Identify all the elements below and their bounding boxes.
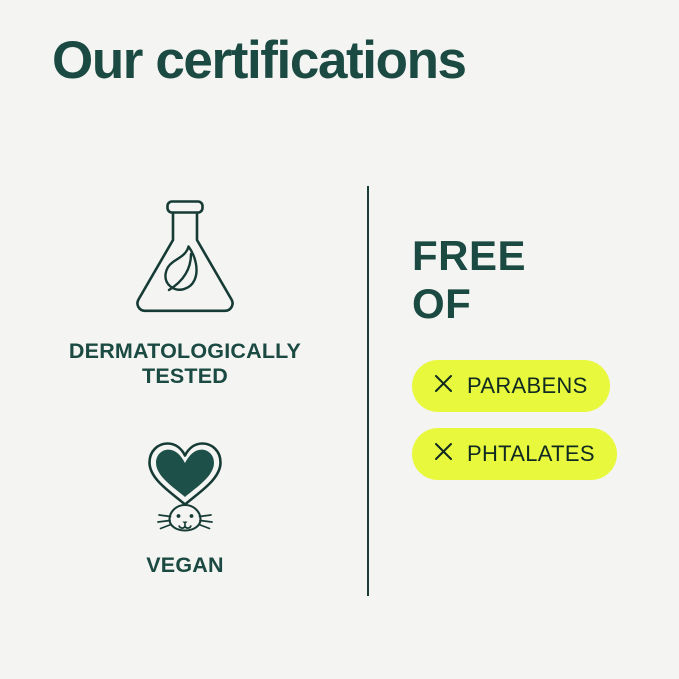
free-of-pill-label: PHTALATES — [467, 443, 595, 465]
free-of-pill-parabens[interactable]: PARABENS — [412, 360, 610, 412]
certifications-column: DERMATOLOGICALLY TESTED — [20, 196, 350, 578]
free-of-list: PARABENS PHTALATES — [412, 360, 662, 480]
certification-vegan: VEGAN — [133, 431, 237, 578]
free-of-column: FREE OF PARABENS PHTALATES — [412, 232, 662, 480]
free-of-heading-line-2: OF — [412, 280, 662, 328]
column-divider — [367, 186, 369, 596]
page-title: Our certifications — [52, 30, 466, 92]
free-of-pill-label: PARABENS — [467, 375, 588, 397]
bunny-heart-icon — [133, 431, 237, 541]
free-of-heading: FREE OF — [412, 232, 662, 328]
x-icon — [434, 442, 453, 466]
free-of-pill-phtalates[interactable]: PHTALATES — [412, 428, 617, 480]
flask-leaf-icon — [126, 196, 244, 323]
certifications-infographic: Our certifications DERMATOLOGICALLY TEST… — [0, 0, 679, 679]
certification-label: DERMATOLOGICALLY TESTED — [35, 339, 335, 389]
x-icon — [434, 374, 453, 398]
certification-dermatologically-tested: DERMATOLOGICALLY TESTED — [35, 196, 335, 389]
certification-label: VEGAN — [146, 553, 223, 578]
free-of-heading-line-1: FREE — [412, 232, 662, 280]
